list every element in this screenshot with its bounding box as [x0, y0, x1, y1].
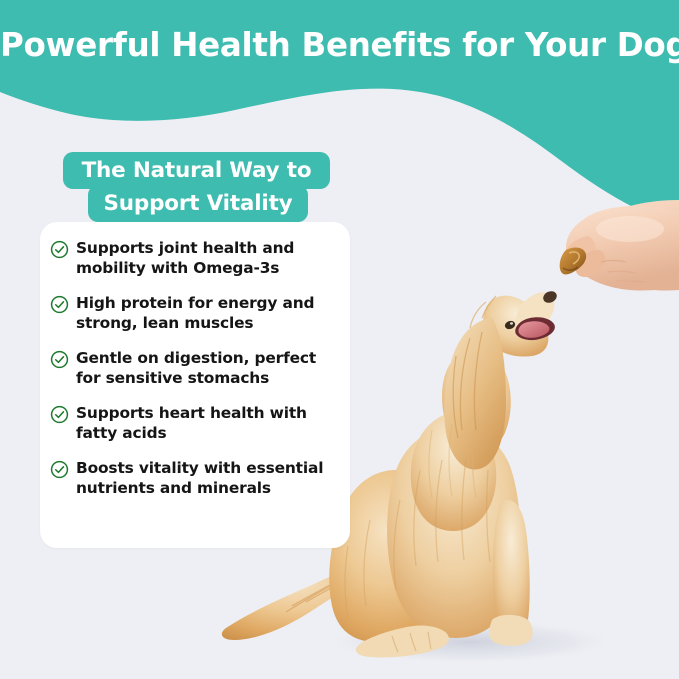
dog-tail-fringe-strokes [286, 556, 392, 612]
section-badge-line-1: The Natural Way to [63, 152, 330, 189]
infographic-canvas: Powerful Health Benefits for Your Dog [0, 0, 679, 679]
dog-ground-shadow [322, 620, 618, 664]
benefit-item: High protein for energy and strong, lean… [50, 293, 340, 334]
check-circle-icon [50, 405, 69, 424]
treat-shadow-edge [563, 267, 578, 270]
dog-body [387, 428, 520, 638]
dog-mouth [515, 317, 555, 340]
dog-eye [504, 320, 516, 331]
benefit-item: Supports joint health and mobility with … [50, 238, 340, 279]
dog-paw-toe-lines [392, 632, 431, 652]
dog-ear [444, 318, 506, 470]
check-circle-icon [50, 350, 69, 369]
finger-crease-2 [607, 271, 635, 273]
section-badge-line-2: Support Vitality [88, 185, 308, 222]
dog-tongue [518, 321, 549, 338]
benefits-list: Supports joint health and mobility with … [50, 238, 340, 499]
dog-head [483, 296, 548, 357]
dog-front-paw [489, 615, 533, 646]
dog-head-fur [470, 296, 496, 328]
benefit-text: Boosts vitality with essential nutrients… [76, 458, 340, 499]
benefit-text: Gentle on digestion, perfect for sensiti… [76, 348, 340, 389]
check-circle-icon [50, 240, 69, 259]
dog-ear-fur-lines [453, 332, 482, 438]
dog-neck [442, 347, 511, 451]
dog-muzzle [515, 292, 554, 336]
dog-tail-fringe [222, 552, 400, 640]
check-circle-icon [50, 295, 69, 314]
benefits-card: Supports joint health and mobility with … [40, 222, 350, 548]
benefit-text: High protein for energy and strong, lean… [76, 293, 340, 334]
benefit-text: Supports joint health and mobility with … [76, 238, 340, 279]
benefit-text: Supports heart health with fatty acids [76, 403, 340, 444]
page-title: Powerful Health Benefits for Your Dog [0, 26, 679, 64]
check-circle-icon [50, 460, 69, 479]
dog-chest-ruff [411, 412, 496, 531]
benefit-item: Boosts vitality with essential nutrients… [50, 458, 340, 499]
dog-nose [541, 289, 558, 305]
benefit-item: Gentle on digestion, perfect for sensiti… [50, 348, 340, 389]
finger-crease-3 [616, 281, 645, 282]
dog-eye-highlight [510, 322, 513, 324]
dog-chest-fur-texture [429, 424, 476, 498]
benefit-item: Supports heart health with fatty acids [50, 403, 340, 444]
dog-fur-texture [345, 458, 490, 618]
dog-rear-paw [356, 626, 449, 658]
finger-crease-1 [601, 261, 626, 263]
dog-front-leg [493, 500, 530, 637]
